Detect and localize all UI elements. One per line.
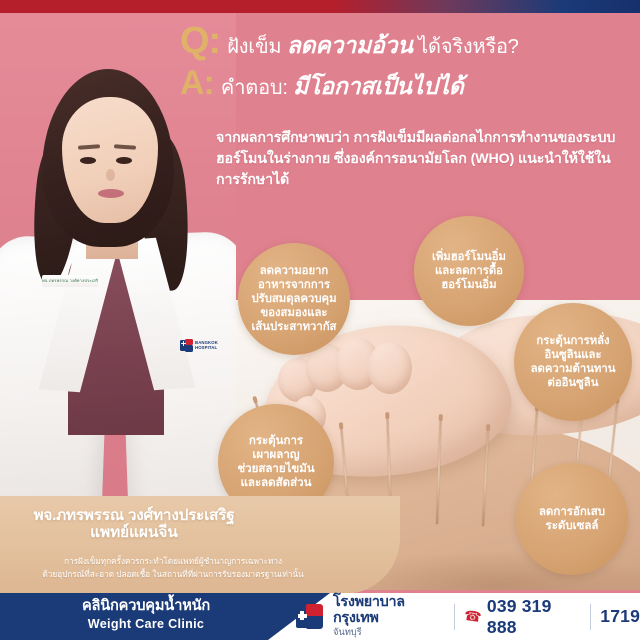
- clinic-name-en: Weight Care Clinic: [28, 616, 264, 632]
- question-letter: Q:: [180, 22, 220, 60]
- doctor-name-tag-text: พจ.ภทรพรรณ วงศ์ทางประเสริฐ: [42, 275, 98, 287]
- clinic-name-block: คลินิกควบคุมน้ำหนัก Weight Care Clinic: [28, 598, 264, 632]
- hotline-number[interactable]: 1719: [600, 606, 640, 627]
- infographic-canvas: พจ.ภทรพรรณ วงศ์ทางประเสริฐ BANGKOK HOSPI…: [0, 0, 640, 640]
- hospital-branch: จันทบุรี: [333, 627, 445, 637]
- phone-number-block[interactable]: ☎ 039 319 888: [464, 596, 581, 638]
- doctor-role: แพทย์แผนจีน: [0, 523, 268, 542]
- callout-bubble-satiety: เพิ่มฮอร์โมนอิ่ม และลดการดื้อ ฮอร์โมนอิ่…: [414, 216, 524, 326]
- footer-bar: คลินิกควบคุมน้ำหนัก Weight Care Clinic โ…: [0, 593, 640, 640]
- question-row: Q: ฝังเข็ม ลดความอ้วน ได้จริงหรือ?: [180, 22, 632, 60]
- footer-contact-block: โรงพยาบาลกรุงเทพ จันทบุรี ☎ 039 319 888 …: [292, 593, 640, 640]
- phone-handset-icon: ☎: [463, 607, 483, 626]
- callout-bubble-insulin-text: กระตุ้นการหลั่ง อินซูลินและ ลดความต้านทา…: [531, 334, 616, 390]
- callout-bubble-appetite-text: ลดความอยาก อาหารจากการ ปรับสมดุลควบคุม ข…: [251, 264, 336, 334]
- callout-bubble-appetite: ลดความอยาก อาหารจากการ ปรับสมดุลควบคุม ข…: [238, 243, 350, 355]
- bangkok-hospital-logo-icon: [296, 604, 324, 630]
- hospital-name-block: โรงพยาบาลกรุงเทพ จันทบุรี: [333, 595, 445, 637]
- answer-text: คำตอบ: มีโอกาสเป็นไปได้: [221, 72, 464, 100]
- callout-bubble-satiety-text: เพิ่มฮอร์โมนอิ่ม และลดการดื้อ ฮอร์โมนอิ่…: [432, 250, 506, 292]
- callout-bubble-inflammation: ลดการอักเสบ ระดับเซลล์: [516, 463, 628, 575]
- phone-number: 039 319 888: [487, 596, 581, 638]
- doctor-name-tag: พจ.ภทรพรรณ วงศ์ทางประเสริฐ: [42, 275, 98, 287]
- question-emphasis: ลดความอ้วน: [287, 32, 413, 58]
- answer-prefix: คำตอบ:: [221, 77, 293, 99]
- hospital-name-th: โรงพยาบาลกรุงเทพ: [333, 595, 445, 627]
- callout-bubble-insulin: กระตุ้นการหลั่ง อินซูลินและ ลดความต้านทา…: [514, 303, 632, 421]
- question-prefix: ฝังเข็ม: [227, 36, 287, 58]
- coat-badge-line2: HOSPITAL: [195, 345, 218, 350]
- footer-divider-1: [454, 604, 455, 630]
- answer-row: A: คำตอบ: มีโอกาสเป็นไปได้: [180, 66, 632, 100]
- callout-bubble-metabolism-text: กระตุ้นการ เผาผลาญ ช่วยสลายไขมัน และลดสั…: [237, 434, 314, 491]
- question-text: ฝังเข็ม ลดความอ้วน ได้จริงหรือ?: [227, 31, 519, 59]
- hospital-cross-icon: [180, 339, 193, 352]
- top-gradient-bar: [0, 0, 640, 13]
- bangkok-hospital-coat-badge: BANGKOK HOSPITAL: [180, 335, 226, 355]
- clinic-name-th: คลินิกควบคุมน้ำหนัก: [28, 598, 264, 616]
- question-suffix: ได้จริงหรือ?: [413, 36, 519, 58]
- answer-emphasis: มีโอกาสเป็นไปได้: [293, 73, 463, 99]
- callout-bubble-inflammation-text: ลดการอักเสบ ระดับเซลล์: [539, 505, 605, 534]
- lead-paragraph: จากผลการศึกษาพบว่า การฝังเข็มมีผลต่อกลไก…: [216, 128, 628, 191]
- qa-header: Q: ฝังเข็ม ลดความอ้วน ได้จริงหรือ? A: คำ…: [180, 22, 632, 100]
- disclaimer-text: การฝังเข็มทุกครั้งควรกระทำโดยแพทย์ผู้ชำน…: [8, 555, 338, 580]
- footer-divider-2: [590, 604, 591, 630]
- answer-letter: A:: [180, 66, 214, 100]
